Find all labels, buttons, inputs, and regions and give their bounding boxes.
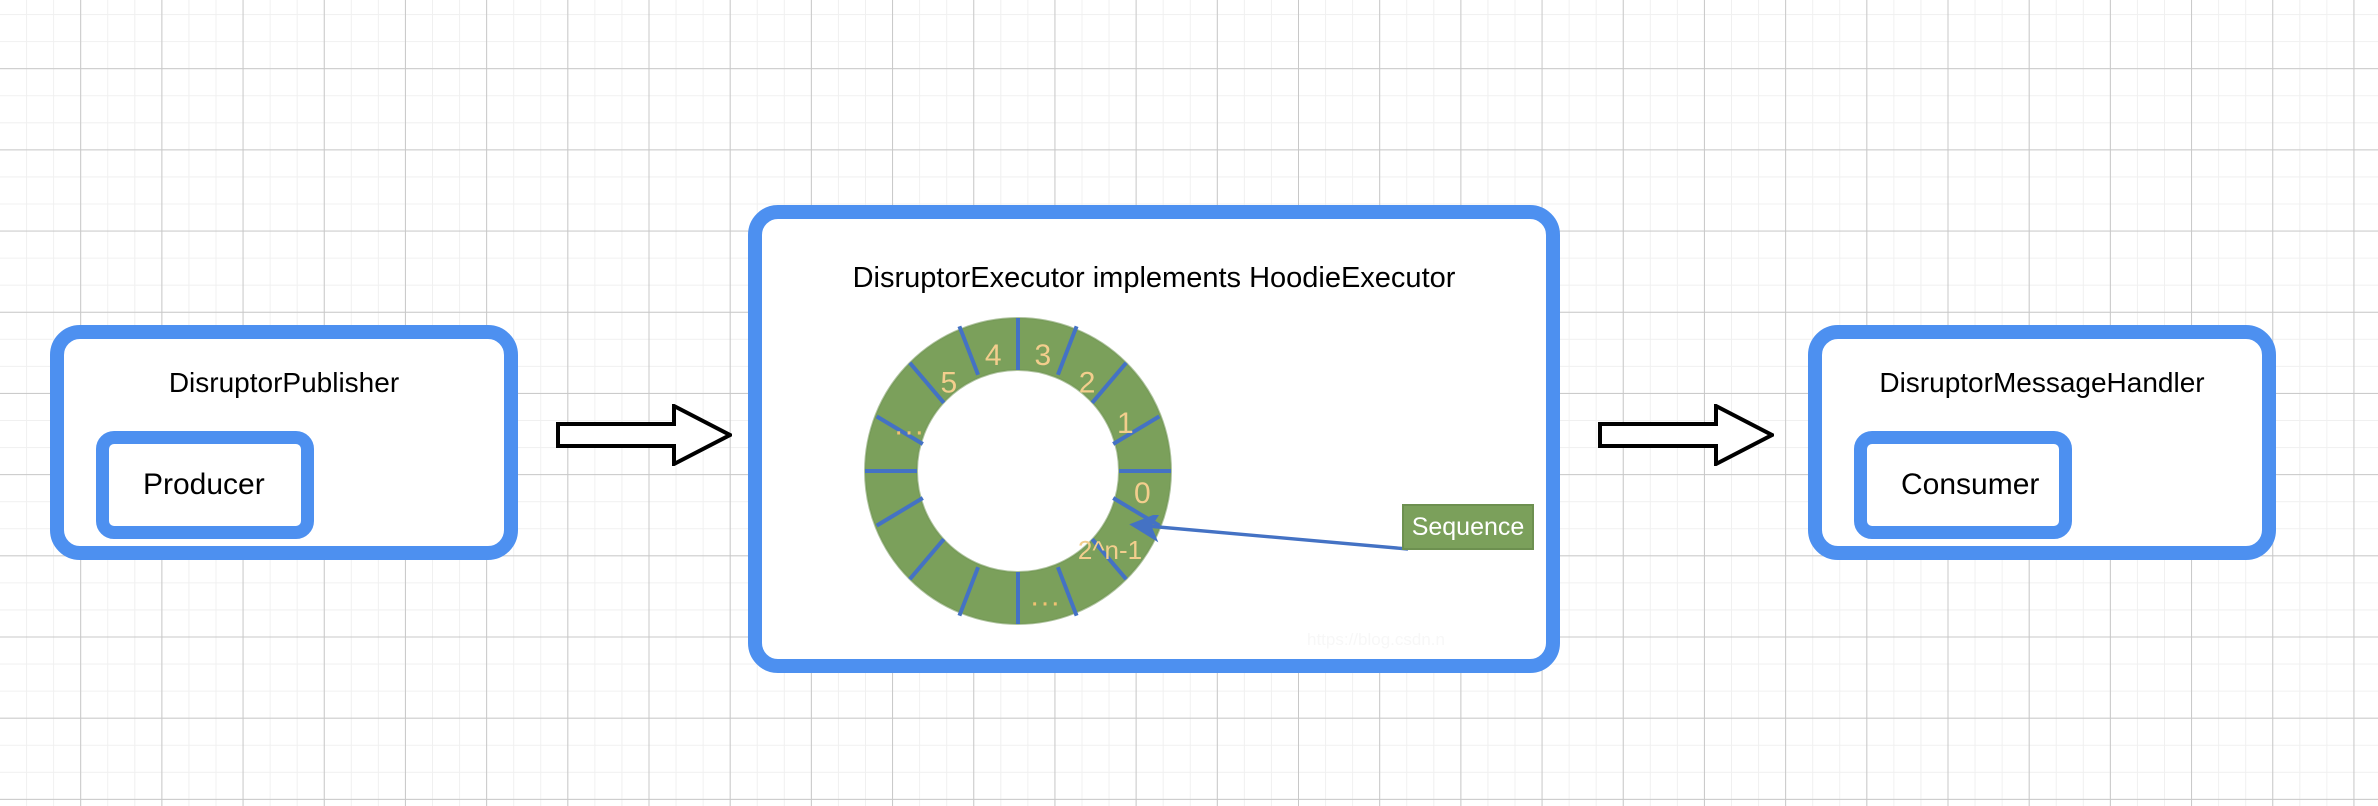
ring-dividers — [865, 318, 1171, 624]
ring-label-3: 3 — [1034, 339, 1051, 372]
consumer-box[interactable]: Consumer — [1854, 431, 2072, 539]
arrow-publisher-to-executor — [556, 404, 732, 466]
block-arrow-right-icon — [558, 406, 730, 464]
ring-label-ellipsis-left: ... — [894, 409, 925, 442]
ring-label-4: 4 — [985, 339, 1002, 372]
ring-label-ellipsis-bottom: ... — [1030, 580, 1061, 613]
diagram-canvas: DisruptorPublisher Producer DisruptorExe… — [0, 0, 2378, 806]
ring-label-5: 5 — [941, 367, 958, 400]
ring-label-0: 0 — [1134, 477, 1151, 510]
producer-box[interactable]: Producer — [96, 431, 314, 539]
disruptor-publisher-box[interactable]: DisruptorPublisher Producer — [50, 325, 518, 560]
sequence-pointer-arrow — [1120, 515, 1410, 561]
disruptor-message-handler-title: DisruptorMessageHandler — [1822, 367, 2262, 399]
ring-label-1: 1 — [1117, 407, 1134, 440]
arrow-executor-to-handler — [1598, 404, 1774, 466]
disruptor-message-handler-box[interactable]: DisruptorMessageHandler Consumer — [1808, 325, 2276, 560]
consumer-label: Consumer — [1867, 468, 2039, 502]
block-arrow-right-icon — [1600, 406, 1772, 464]
sequence-label: Sequence — [1412, 513, 1525, 542]
disruptor-publisher-title: DisruptorPublisher — [64, 367, 504, 399]
disruptor-executor-box[interactable]: DisruptorExecutor implements HoodieExecu… — [748, 205, 1560, 673]
watermark-text: https://blog.csdn.n — [1307, 630, 1445, 650]
sequence-arrow-line — [1136, 525, 1408, 549]
sequence-box[interactable]: Sequence — [1402, 504, 1534, 550]
ring-label-2: 2 — [1079, 367, 1096, 400]
ring-buffer: 0 1 2 3 4 5 ... 2^n-1 ... — [858, 311, 1178, 631]
producer-label: Producer — [109, 468, 265, 502]
disruptor-executor-title: DisruptorExecutor implements HoodieExecu… — [762, 262, 1546, 295]
